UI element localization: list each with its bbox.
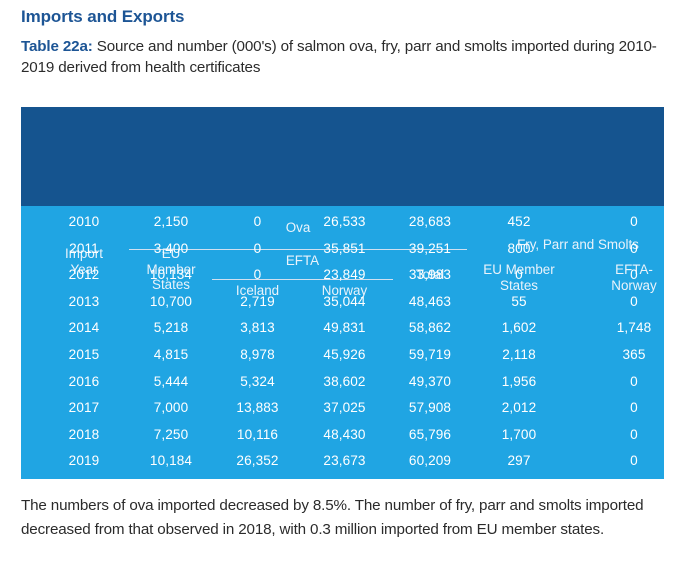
page-title: Imports and Exports	[21, 7, 184, 27]
cell-ova-eu-member-states: 7,250	[131, 427, 211, 442]
cell-fps-efta-norway: 0	[584, 453, 684, 468]
cell-ova-iceland: 2,719	[213, 294, 302, 309]
cell-ova-norway: 23,673	[300, 453, 389, 468]
cell-ova-eu-member-states: 5,444	[131, 374, 211, 389]
cell-ova-iceland: 5,324	[213, 374, 302, 389]
cell-ova-iceland: 0	[213, 267, 302, 282]
cell-fps-eu-member-states: 1,700	[469, 427, 569, 442]
cell-ova-eu-member-states: 7,000	[131, 400, 211, 415]
cell-fps-eu-member-states: 2,012	[469, 400, 569, 415]
cell-ova-norway: 23,849	[300, 267, 389, 282]
cell-ova-total: 49,370	[394, 374, 466, 389]
table-caption-text: Source and number (000's) of salmon ova,…	[21, 38, 657, 76]
cell-import-year: 2010	[47, 214, 121, 229]
table-header: Ova EFTA ImportYear EUMemberStates Icela…	[21, 107, 664, 206]
table-row: 20154,8158,97845,92659,7192,118365	[21, 343, 664, 370]
table-body: 20102,150026,53328,683452020113,400035,8…	[21, 206, 664, 476]
cell-ova-iceland: 26,352	[213, 453, 302, 468]
cell-ova-iceland: 13,883	[213, 400, 302, 415]
table-row: 201310,7002,71935,04448,463550	[21, 290, 664, 317]
cell-import-year: 2016	[47, 374, 121, 389]
cell-ova-eu-member-states: 4,815	[131, 347, 211, 362]
table-row: 201910,18426,35223,67360,2092970	[21, 449, 664, 476]
cell-fps-eu-member-states: 0	[469, 267, 569, 282]
table-row: 20145,2183,81349,83158,8621,6021,748	[21, 316, 664, 343]
cell-fps-eu-member-states: 2,118	[469, 347, 569, 362]
cell-import-year: 2018	[47, 427, 121, 442]
cell-fps-eu-member-states: 800	[469, 241, 569, 256]
cell-ova-norway: 35,851	[300, 241, 389, 256]
cell-ova-eu-member-states: 2,150	[131, 214, 211, 229]
cell-fps-eu-member-states: 1,602	[469, 320, 569, 335]
table-row: 20177,00013,88337,02557,9082,0120	[21, 396, 664, 423]
cell-ova-eu-member-states: 10,134	[131, 267, 211, 282]
cell-ova-total: 57,908	[394, 400, 466, 415]
cell-ova-norway: 48,430	[300, 427, 389, 442]
cell-fps-eu-member-states: 297	[469, 453, 569, 468]
table-row: 201210,134023,84933,98300	[21, 263, 664, 290]
cell-ova-total: 65,796	[394, 427, 466, 442]
cell-ova-eu-member-states: 3,400	[131, 241, 211, 256]
cell-ova-eu-member-states: 10,184	[131, 453, 211, 468]
cell-ova-norway: 26,533	[300, 214, 389, 229]
cell-import-year: 2017	[47, 400, 121, 415]
cell-ova-total: 28,683	[394, 214, 466, 229]
cell-ova-iceland: 0	[213, 241, 302, 256]
cell-ova-iceland: 0	[213, 214, 302, 229]
table-row: 20102,150026,53328,6834520	[21, 210, 664, 237]
cell-ova-iceland: 8,978	[213, 347, 302, 362]
cell-fps-efta-norway: 0	[584, 294, 684, 309]
cell-ova-norway: 35,044	[300, 294, 389, 309]
cell-ova-total: 59,719	[394, 347, 466, 362]
cell-import-year: 2019	[47, 453, 121, 468]
cell-ova-iceland: 10,116	[213, 427, 302, 442]
table-caption: Table 22a: Source and number (000's) of …	[21, 36, 669, 78]
imports-table: Ova EFTA ImportYear EUMemberStates Icela…	[21, 107, 664, 479]
cell-ova-total: 48,463	[394, 294, 466, 309]
footer-note: The numbers of ova imported decreased by…	[21, 494, 676, 542]
cell-ova-eu-member-states: 5,218	[131, 320, 211, 335]
cell-fps-efta-norway: 0	[584, 214, 684, 229]
table-caption-label: Table 22a:	[21, 38, 93, 55]
cell-fps-efta-norway: 0	[584, 400, 684, 415]
table-row: 20165,4445,32438,60249,3701,9560	[21, 370, 664, 397]
cell-fps-efta-norway: 0	[584, 374, 684, 389]
table-row: 20187,25010,11648,43065,7961,7000	[21, 423, 664, 450]
cell-ova-norway: 45,926	[300, 347, 389, 362]
cell-import-year: 2011	[47, 241, 121, 256]
cell-ova-iceland: 3,813	[213, 320, 302, 335]
cell-fps-efta-norway: 0	[584, 241, 684, 256]
cell-import-year: 2014	[47, 320, 121, 335]
cell-fps-efta-norway: 1,748	[584, 320, 684, 335]
cell-import-year: 2013	[47, 294, 121, 309]
cell-fps-efta-norway: 365	[584, 347, 684, 362]
cell-ova-norway: 38,602	[300, 374, 389, 389]
cell-import-year: 2012	[47, 267, 121, 282]
cell-fps-eu-member-states: 452	[469, 214, 569, 229]
table-row: 20113,400035,85139,2518000	[21, 237, 664, 264]
cell-fps-eu-member-states: 1,956	[469, 374, 569, 389]
cell-fps-efta-norway: 0	[584, 427, 684, 442]
cell-import-year: 2015	[47, 347, 121, 362]
cell-ova-norway: 49,831	[300, 320, 389, 335]
cell-fps-efta-norway: 0	[584, 267, 684, 282]
cell-fps-eu-member-states: 55	[469, 294, 569, 309]
cell-ova-total: 39,251	[394, 241, 466, 256]
cell-ova-total: 58,862	[394, 320, 466, 335]
cell-ova-total: 60,209	[394, 453, 466, 468]
cell-ova-norway: 37,025	[300, 400, 389, 415]
cell-ova-eu-member-states: 10,700	[131, 294, 211, 309]
cell-ova-total: 33,983	[394, 267, 466, 282]
